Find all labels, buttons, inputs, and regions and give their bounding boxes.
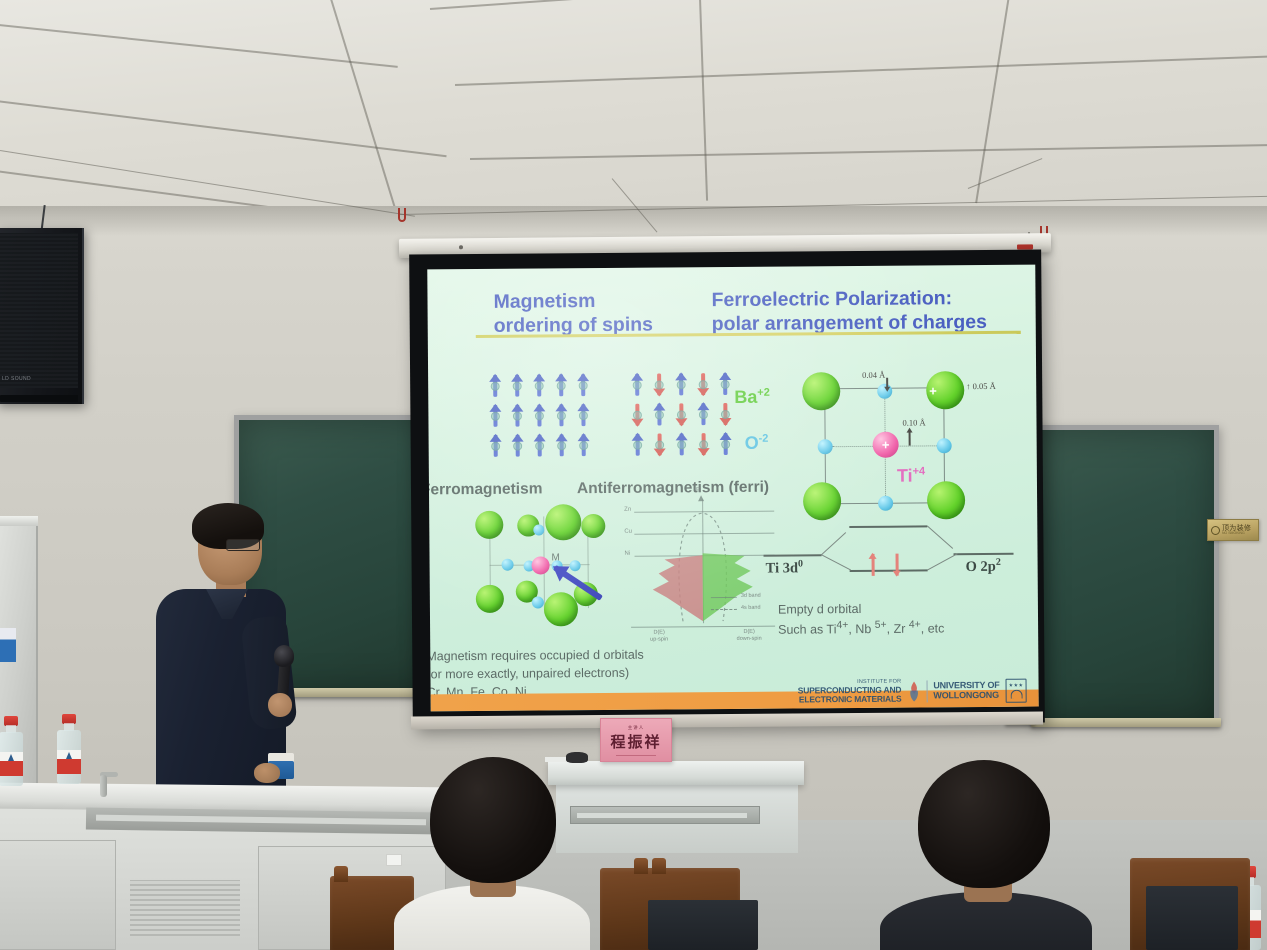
spin-cell: [551, 432, 573, 458]
name-card-rule: [616, 755, 656, 756]
mo-left-sup: 0: [798, 558, 803, 569]
note-line-2: Such as Ti4+, Nb 5+, Zr 4+, etc: [778, 617, 944, 639]
mo-connector: [927, 553, 957, 570]
speaker-name-card: 主讲人 程振祥: [600, 718, 672, 762]
spin-cell: [648, 371, 670, 397]
water-bottle[interactable]: [56, 714, 82, 784]
mo-level-ti: [764, 554, 822, 556]
speaker-grille: [0, 233, 78, 388]
spin-cell: [626, 372, 648, 398]
molecular-orbital-diagram: Ti 3d0 O 2p2: [763, 527, 1014, 595]
note-bottom-line2: (or more exactly, unpaired electrons): [427, 664, 644, 684]
spin-site-node: [491, 442, 500, 451]
atom-oxygen-bottom: [878, 496, 893, 511]
charge-plus-symbol: +: [882, 438, 890, 451]
note-zr: , Zr: [887, 622, 909, 636]
dos-x-left-spin: up-spin: [639, 637, 679, 645]
label-o-2p2: O 2p2: [966, 557, 1001, 576]
mo-connector: [927, 526, 953, 549]
presenter-hand-holding-mic: [268, 693, 292, 717]
spin-site-node: [579, 441, 588, 450]
spin-cell: [649, 431, 671, 457]
spin-cell: [484, 403, 506, 429]
dim-arrow-top: [886, 378, 888, 388]
podium-keyboard-tray[interactable]: [570, 806, 760, 824]
legend-label-3d: 3d band: [741, 593, 761, 599]
wall-plaque: 顶为装修 NO SMOKING: [1207, 519, 1259, 541]
spin-cell: [714, 401, 736, 427]
screen-hook-left: [398, 208, 406, 222]
spin-cell: [572, 372, 594, 398]
ceiling: [0, 0, 1267, 214]
atom-barium: [802, 372, 840, 410]
dos-plot: E Zn Cu Ni 3d band: [624, 489, 785, 640]
speaker-brand-label: LD SOUND: [2, 376, 31, 382]
spin-site-node: [535, 411, 544, 420]
spin-cell: [485, 433, 507, 459]
batio3-unit-cell: + + Ba+2 O-2 Ti+4 0.04 Å ↑ 0.05 Å 0.10 Å: [776, 369, 992, 521]
spin-cell: [484, 373, 506, 399]
atom-barium: [803, 482, 841, 520]
spin-site-node: [699, 440, 708, 449]
label-oxygen: O-2: [745, 433, 769, 454]
tray-inner: [577, 813, 747, 818]
speaker-base: [0, 395, 78, 402]
spin-site-node: [633, 381, 642, 390]
slide-headings: Magnetism ordering of spins Ferroelectri…: [427, 287, 1035, 292]
cabinet-top-lip: [0, 516, 38, 526]
spin-cell: [627, 432, 649, 458]
spin-cell: [528, 372, 550, 398]
spin-site-node: [491, 412, 500, 421]
housing-screw: [459, 245, 463, 249]
label-barium: Ba+2: [734, 387, 770, 408]
presentation-slide: Magnetism ordering of spins Ferroelectri…: [427, 265, 1038, 712]
atom-oxygen: [532, 596, 544, 608]
spin-site-node: [633, 411, 642, 420]
uow-line2: WOLLONGONG: [933, 691, 999, 701]
label-ba-charge: +2: [757, 387, 770, 399]
spin-cell: [692, 401, 714, 427]
uow-logo-text: UNIVERSITY OF WOLLONGONG: [933, 681, 999, 701]
label-ti-charge: +4: [912, 465, 925, 477]
label-o-text: O: [745, 433, 759, 453]
label-ti-text: Ti: [897, 466, 913, 486]
spin-site-node: [721, 410, 730, 419]
spin-site-node: [557, 441, 566, 450]
isem-flame-icon: [907, 680, 920, 702]
mo-level-o: [954, 553, 1014, 555]
spin-cell: [715, 431, 737, 457]
spin-site-node: [721, 380, 730, 389]
audience-member: [388, 757, 588, 950]
spin-cell: [507, 433, 529, 459]
dos-x-label-upspin: D(E) up-spin: [639, 629, 679, 644]
spin-cell: [670, 401, 692, 427]
chair-backrest-pad: [648, 900, 758, 950]
legend-line-4s: [711, 609, 737, 610]
spin-cell: [573, 432, 595, 458]
spin-site-node: [655, 380, 664, 389]
spin-site-node: [557, 381, 566, 390]
mo-connector: [821, 532, 846, 555]
logo-divider: [926, 680, 927, 702]
atom-transition-metal: [532, 556, 550, 574]
mo-right-sup: 2: [996, 557, 1001, 568]
presenter: [150, 505, 310, 815]
electron-spin-up-arrow: [872, 554, 875, 576]
spin-cell: [648, 401, 670, 427]
atom-green: [544, 592, 578, 626]
audience-hair: [430, 757, 556, 883]
spin-site-node: [677, 410, 686, 419]
spin-site-node: [721, 440, 730, 449]
name-card-name: 程振祥: [610, 731, 661, 752]
mo-right-text: O 2p: [966, 559, 996, 575]
crest-arch: [1010, 690, 1022, 699]
atom-titanium: +: [873, 432, 899, 458]
spin-cell: [670, 371, 692, 397]
dim-label-top: 0.04 Å: [862, 370, 885, 380]
spin-cell: [714, 371, 736, 397]
water-bottle[interactable]: [0, 716, 24, 786]
dim-right-value: 0.05 Å: [973, 381, 996, 391]
chair-knob: [334, 866, 348, 882]
label-ba-text: Ba: [734, 387, 757, 407]
spin-site-node: [535, 441, 544, 450]
heading-magnetism: Magnetism ordering of spins: [493, 290, 653, 339]
atom-barium: [927, 481, 965, 519]
atom-oxygen: [570, 560, 581, 571]
heading-ferroelectric: Ferroelectric Polarization: polar arrang…: [711, 287, 987, 337]
atom-green: [545, 504, 581, 540]
spin-site-node: [513, 382, 522, 391]
spin-site-node: [655, 440, 664, 449]
note-nb: , Nb: [848, 622, 875, 636]
heading-ferroelectric-line1: Ferroelectric Polarization:: [711, 287, 986, 313]
spin-site-node: [579, 381, 588, 390]
mo-connector: [821, 554, 851, 570]
legend-line-3d: [711, 597, 737, 598]
spin-cell: [626, 402, 648, 428]
mo-level-bonding: [850, 569, 928, 571]
dos-x-right-spin: down-spin: [725, 636, 773, 644]
bottle-label: [0, 752, 23, 776]
spin-cell: [529, 432, 551, 458]
spin-cell: [506, 403, 528, 429]
heading-magnetism-line1: Magnetism: [493, 290, 652, 315]
spin-cell: [506, 373, 528, 399]
spin-site-node: [535, 381, 544, 390]
lecture-hall-photo: LD SOUND 顶为装修 NO SMOKING Magnetism order…: [0, 0, 1267, 950]
perovskite-crystal-model: M: [469, 508, 620, 631]
atom-oxygen: [533, 524, 544, 535]
note-bottom-line1: Magnetism requires occupied d orbitals: [427, 646, 644, 666]
presenter-hand-holding-clicker: [254, 763, 280, 783]
atom-green: [581, 514, 605, 538]
label-ti-3d0: Ti 3d0: [766, 558, 804, 577]
antiferromagnetic-spin-lattice: [626, 371, 737, 462]
legend-label-4s: 4s band: [741, 605, 761, 611]
spin-cell: [572, 402, 594, 428]
note-etc: , etc: [921, 622, 945, 636]
uow-crest-icon: ★★★: [1006, 679, 1027, 703]
spin-site-node: [699, 380, 708, 389]
crest-stars: ★★★: [1009, 683, 1024, 689]
dim-label-right: ↑ 0.05 Å: [966, 381, 996, 391]
audience-member: [880, 760, 1090, 950]
isem-line3: ELECTRONIC MATERIALS: [798, 695, 902, 705]
no-smoking-icon: [1211, 526, 1220, 535]
cabinet-vent: [130, 880, 240, 936]
spin-site-node: [699, 410, 708, 419]
presenter-glasses: [226, 539, 260, 551]
charge-plus-symbol-ba: +: [929, 383, 937, 398]
dim-label-center: 0.10 Å: [902, 417, 925, 427]
mo-left-text: Ti 3d: [766, 560, 799, 576]
wall-speaker: LD SOUND: [0, 228, 84, 404]
atom-oxygen-right: [937, 438, 952, 453]
note-line-1: Empty d orbital: [778, 599, 944, 618]
cabinet-door[interactable]: [0, 840, 116, 950]
counter-rail-inner: [96, 815, 426, 826]
institution-logo: INSTITUTE FOR SUPERCONDUCTING AND ELECTR…: [798, 679, 1027, 705]
dos-3d-band-fill: [624, 489, 785, 640]
atom-oxygen: [502, 559, 514, 571]
chair-backrest-pad: [1146, 886, 1238, 950]
chalk-tray-right: [1031, 718, 1221, 727]
electron-spin-down-arrow: [896, 554, 899, 576]
note-sup-zr: 4+: [909, 620, 921, 631]
spin-cell: [692, 371, 714, 397]
label-ferromagnetism: Ferromagnetism: [427, 480, 542, 499]
spin-cell: [693, 431, 715, 457]
cabinet-sticker: [0, 628, 16, 662]
atom-green: [475, 511, 503, 539]
isem-logo-text: INSTITUTE FOR SUPERCONDUCTING AND ELECTR…: [798, 680, 902, 704]
spin-cell: [528, 402, 550, 428]
projection-screen: Magnetism ordering of spins Ferroelectri…: [409, 250, 1045, 728]
microphone-head: [274, 645, 294, 667]
dos-x-label-downspin: D(E) down-spin: [725, 629, 773, 644]
faucet[interactable]: [100, 775, 107, 797]
plaque-subtext: NO SMOKING: [1222, 532, 1251, 536]
atom-green: [476, 585, 504, 613]
audience-hair: [918, 760, 1050, 888]
label-o-charge: -2: [759, 433, 769, 445]
spin-cell: [550, 372, 572, 398]
spin-site-node: [491, 382, 500, 391]
spin-site-node: [513, 442, 522, 451]
atom-oxygen-left: [818, 439, 833, 454]
bottle-label: [57, 750, 81, 774]
note-empty-d-orbital: Empty d orbital Such as Ti4+, Nb 5+, Zr …: [778, 599, 945, 639]
spin-site-node: [655, 410, 664, 419]
note-sup-nb: 5+: [875, 620, 887, 631]
blackboard-right: [1029, 425, 1219, 725]
ferromagnetic-spin-lattice: [484, 372, 595, 463]
mo-level-antibonding: [849, 525, 927, 527]
spin-site-node: [557, 411, 566, 420]
dim-arrow-center: [909, 432, 911, 446]
label-titanium: Ti+4: [897, 465, 925, 486]
spin-site-node: [579, 411, 588, 420]
note-such-as: Such as Ti: [778, 622, 836, 636]
spin-cell: [671, 431, 693, 457]
note-sup-ti: 4+: [836, 620, 848, 631]
spin-cell: [550, 402, 572, 428]
spin-site-node: [633, 441, 642, 450]
spin-site-node: [677, 440, 686, 449]
spin-site-node: [677, 380, 686, 389]
chair-knob: [634, 858, 648, 874]
chair-knob: [652, 858, 666, 874]
wall-ceiling-shadow: [0, 206, 1267, 236]
spin-site-node: [513, 412, 522, 421]
